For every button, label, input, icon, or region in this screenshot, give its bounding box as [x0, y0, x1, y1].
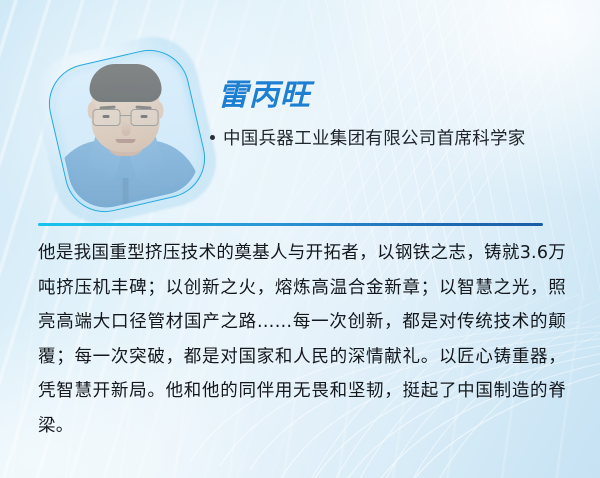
- profile-card: 雷丙旺 中国兵器工业集团有限公司首席科学家 他是我国重型挤压技术的奠基人与开拓者…: [0, 0, 600, 478]
- biography-paragraph: 他是我国重型挤压技术的奠基人与开拓者，以钢铁之志，铸就3.6万吨挤压机丰碑；以创…: [38, 236, 566, 443]
- bullet-icon: [210, 135, 215, 140]
- person-title-row: 中国兵器工业集团有限公司首席科学家: [210, 124, 572, 155]
- portrait: [38, 40, 214, 222]
- person-name: 雷丙旺: [218, 70, 311, 114]
- person-title: 中国兵器工业集团有限公司首席科学家: [223, 124, 526, 155]
- divider: [38, 223, 543, 226]
